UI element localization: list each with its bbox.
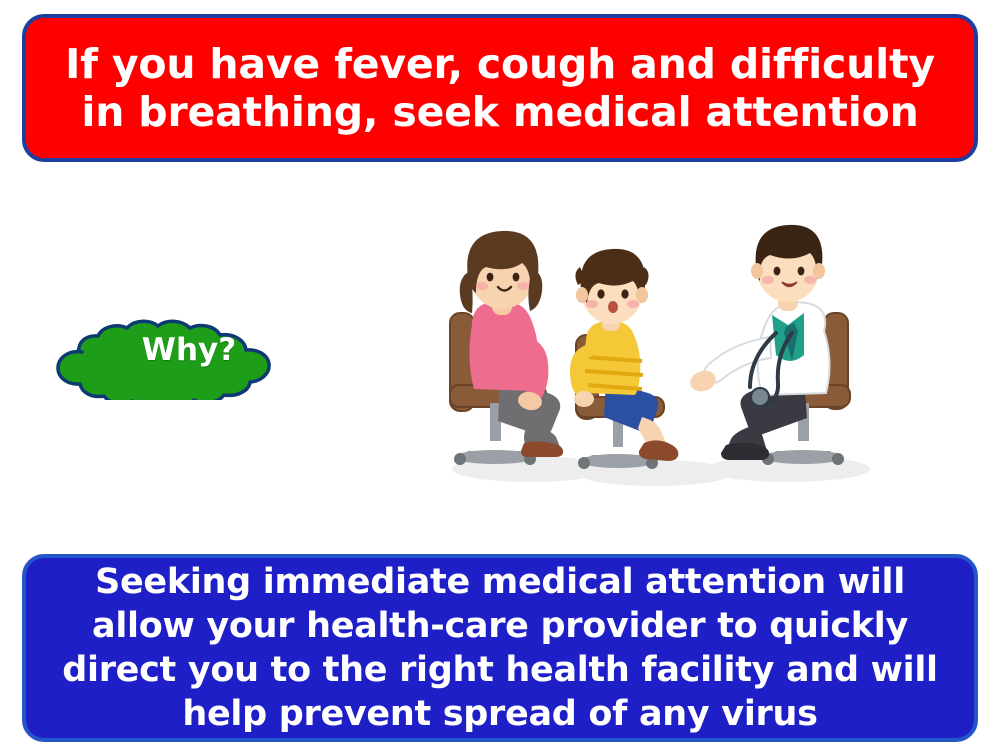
why-cloud-callout: Why? xyxy=(42,300,332,400)
illustration-svg xyxy=(420,185,890,495)
top-warning-banner: If you have fever, cough and difficulty … xyxy=(22,14,978,162)
stethoscope-chestpiece xyxy=(751,388,769,406)
top-banner-text: If you have fever, cough and difficulty … xyxy=(52,40,948,137)
bottom-info-banner: Seeking immediate medical attention will… xyxy=(22,554,978,742)
bottom-banner-text: Seeking immediate medical attention will… xyxy=(46,560,954,736)
figure-doctor xyxy=(688,225,850,465)
doctor-examining-child-illustration xyxy=(420,185,890,495)
why-cloud-label: Why? xyxy=(42,300,332,400)
figure-child xyxy=(570,249,678,469)
figure-mother xyxy=(450,231,563,465)
